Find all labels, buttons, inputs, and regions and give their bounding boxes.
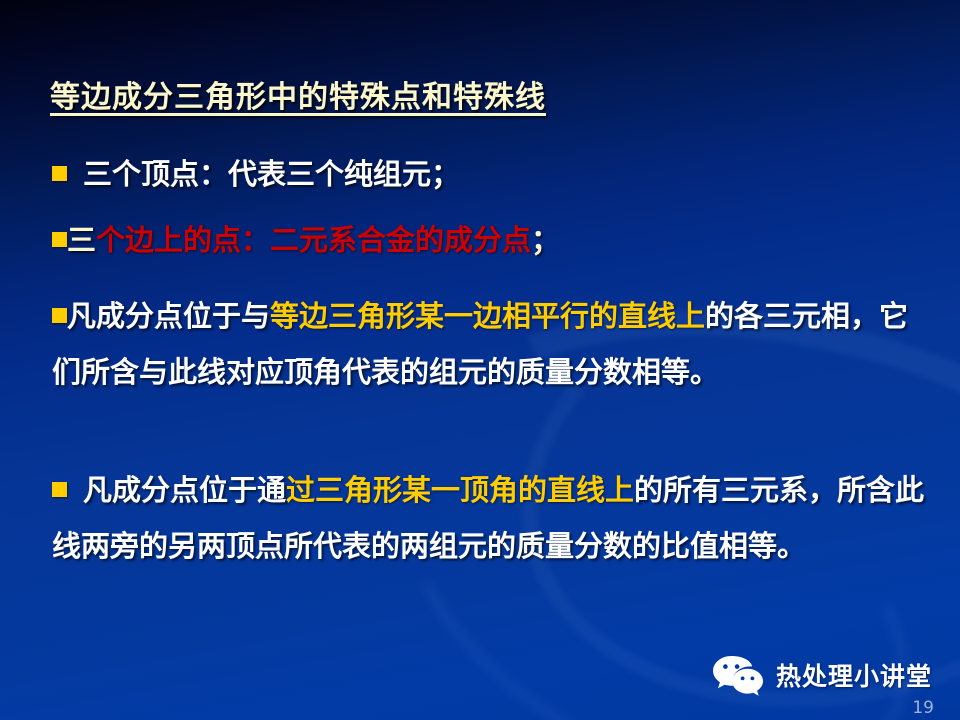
bullet-paragraph-1: 三个顶点：代表三个纯组元； bbox=[52, 146, 460, 202]
bullet-3-run-1: 凡成分点位于与 bbox=[67, 299, 270, 333]
square-bullet-icon bbox=[52, 308, 67, 323]
bullet-paragraph-4: 凡成分点位于通过三角形某一顶角的直线上的所有三元系，所含此线两旁的另两顶点所代表… bbox=[52, 462, 932, 574]
wechat-logo-icon bbox=[712, 654, 764, 696]
presentation-slide: 等边成分三角形中的特殊点和特殊线 三个顶点：代表三个纯组元； 三个边上的点：二元… bbox=[0, 0, 960, 720]
square-bullet-icon bbox=[52, 166, 67, 181]
bullet-3-run-2-highlight: 等边三角形某一边相平行的直线上 bbox=[270, 299, 705, 333]
bullet-4-run-2-highlight: 过三角形某一顶角的直线上 bbox=[286, 473, 634, 507]
bullet-paragraph-2: 三个边上的点：二元系合金的成分点； bbox=[52, 212, 560, 268]
square-bullet-icon bbox=[52, 482, 67, 497]
bullet-1-run-1: 三个顶点：代表三个纯组元； bbox=[83, 157, 460, 191]
slide-title: 等边成分三角形中的特殊点和特殊线 bbox=[50, 72, 546, 116]
bullet-2-run-2-highlight: 个边上的点：二元系合金的成分点 bbox=[96, 223, 531, 257]
slide-content: 等边成分三角形中的特殊点和特殊线 三个顶点：代表三个纯组元； 三个边上的点：二元… bbox=[0, 0, 960, 720]
bullet-4-run-1: 凡成分点位于通 bbox=[83, 473, 286, 507]
watermark: 热处理小讲堂 bbox=[712, 654, 932, 696]
bullet-paragraph-3: 凡成分点位于与等边三角形某一边相平行的直线上的各三元相，它们所含与此线对应顶角代… bbox=[52, 288, 932, 400]
bullet-2-run-1: 三 bbox=[67, 223, 96, 257]
page-number: 19 bbox=[912, 698, 934, 718]
bullet-2-run-3: ； bbox=[531, 223, 560, 257]
watermark-label: 热处理小讲堂 bbox=[776, 657, 932, 693]
square-bullet-icon bbox=[52, 232, 67, 247]
